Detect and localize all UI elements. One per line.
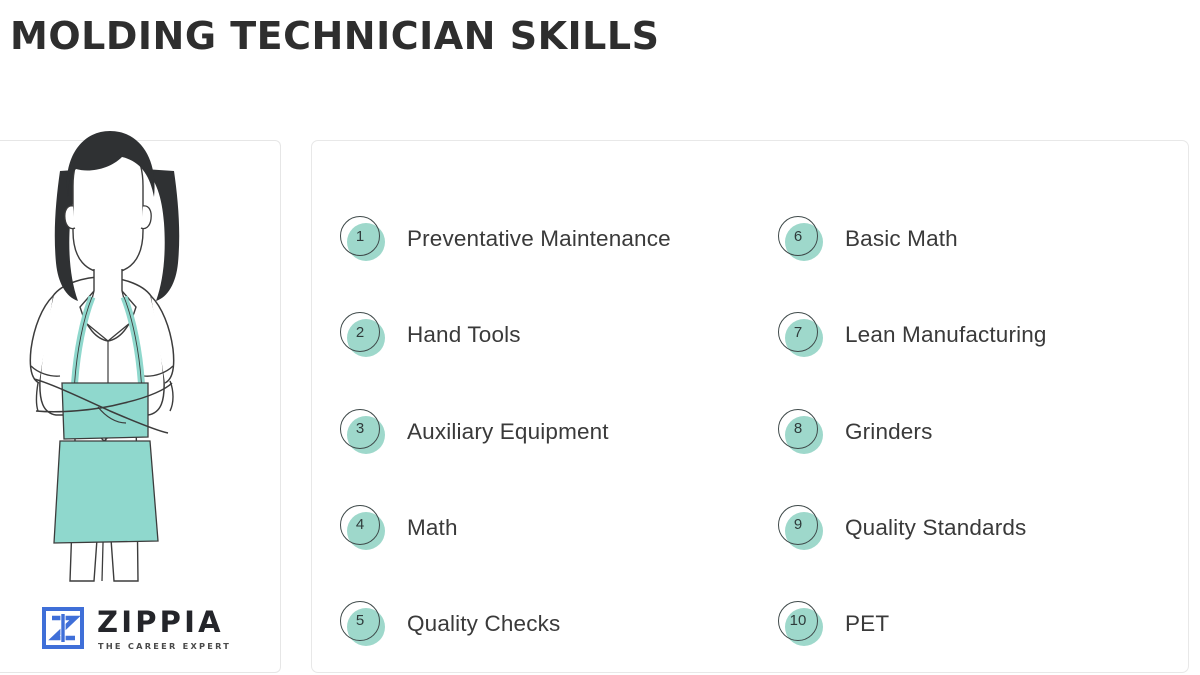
- skill-item[interactable]: 4 Math: [340, 480, 750, 576]
- skill-item[interactable]: 1 Preventative Maintenance: [340, 191, 750, 287]
- skill-item[interactable]: 7 Lean Manufacturing: [778, 287, 1188, 383]
- skill-label: Quality Standards: [845, 515, 1026, 541]
- skill-label: Preventative Maintenance: [407, 226, 671, 252]
- skill-item[interactable]: 8 Grinders: [778, 383, 1188, 479]
- skill-number-badge: 5: [340, 601, 386, 647]
- zippia-tagline: THE CAREER EXPERT: [98, 642, 231, 650]
- badge-number: 9: [778, 505, 818, 545]
- skill-number-badge: 10: [778, 601, 824, 647]
- skill-item[interactable]: 6 Basic Math: [778, 191, 1188, 287]
- skill-label: PET: [845, 611, 889, 637]
- zippia-logo[interactable]: ZIPPIA THE CAREER EXPERT: [42, 606, 231, 650]
- skill-number-badge: 7: [778, 312, 824, 358]
- badge-number: 4: [340, 505, 380, 545]
- skill-item[interactable]: 5 Quality Checks: [340, 576, 750, 672]
- badge-number: 2: [340, 312, 380, 352]
- illustration-panel: ZIPPIA THE CAREER EXPERT: [0, 140, 281, 673]
- badge-number: 10: [778, 601, 818, 641]
- skill-label: Hand Tools: [407, 322, 521, 348]
- skill-label: Lean Manufacturing: [845, 322, 1047, 348]
- skill-item[interactable]: 10 PET: [778, 576, 1188, 672]
- badge-number: 6: [778, 216, 818, 256]
- zippia-wordblock: ZIPPIA THE CAREER EXPERT: [97, 606, 231, 650]
- skills-columns: 1 Preventative Maintenance 2 Hand Tools …: [312, 181, 1188, 672]
- skill-label: Quality Checks: [407, 611, 560, 637]
- badge-number: 1: [340, 216, 380, 256]
- skill-number-badge: 9: [778, 505, 824, 551]
- skill-item[interactable]: 2 Hand Tools: [340, 287, 750, 383]
- skill-number-badge: 2: [340, 312, 386, 358]
- skill-item[interactable]: 3 Auxiliary Equipment: [340, 383, 750, 479]
- skill-number-badge: 1: [340, 216, 386, 262]
- technician-illustration: [0, 111, 281, 571]
- skills-column-right: 6 Basic Math 7 Lean Manufacturing 8 G: [750, 181, 1188, 672]
- skill-number-badge: 3: [340, 409, 386, 455]
- badge-number: 8: [778, 409, 818, 449]
- skill-number-badge: 8: [778, 409, 824, 455]
- zippia-wordmark: ZIPPIA: [97, 608, 231, 637]
- badge-number: 3: [340, 409, 380, 449]
- skill-label: Auxiliary Equipment: [407, 419, 609, 445]
- skills-column-left: 1 Preventative Maintenance 2 Hand Tools …: [312, 181, 750, 672]
- zippia-z-mark-icon: [42, 607, 84, 649]
- skill-item[interactable]: 9 Quality Standards: [778, 480, 1188, 576]
- skill-label: Basic Math: [845, 226, 958, 252]
- skill-label: Math: [407, 515, 458, 541]
- skill-number-badge: 4: [340, 505, 386, 551]
- badge-number: 7: [778, 312, 818, 352]
- skill-number-badge: 6: [778, 216, 824, 262]
- technician-illustration-svg: [0, 111, 288, 611]
- skills-panel: 1 Preventative Maintenance 2 Hand Tools …: [311, 140, 1189, 673]
- badge-number: 5: [340, 601, 380, 641]
- page-title: MOLDING TECHNICIAN SKILLS: [10, 14, 659, 58]
- skill-label: Grinders: [845, 419, 932, 445]
